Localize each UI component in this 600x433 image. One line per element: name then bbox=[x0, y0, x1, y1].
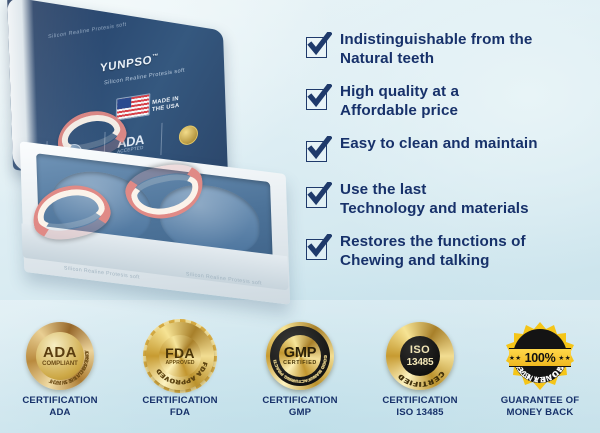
benefit-line-1: Indistinguishable from the bbox=[340, 30, 532, 49]
certification-ada: AMERICANS WITH DISABILITIES ACT ADA COMP… bbox=[0, 322, 120, 433]
certification-fda: FDA APPROVED FDA APPROVED FDA APPROVED C… bbox=[120, 322, 240, 433]
fda-core-main: FDA bbox=[165, 346, 195, 360]
caption-line-1: CERTIFICATION bbox=[142, 395, 217, 407]
checkmark-icon bbox=[306, 184, 329, 207]
benefit-line-1: Easy to clean and maintain bbox=[340, 134, 538, 153]
iso-core-label: ISO 13485 bbox=[386, 322, 454, 390]
benefit-text: Use the last Technology and materials bbox=[340, 180, 529, 219]
money-back-guarantee-seal-icon: MONEY BACK GUARANTEE ★★ 100% ★★ bbox=[506, 322, 574, 390]
money-back-caption: GUARANTEE OF MONEY BACK bbox=[501, 395, 580, 420]
caption-line-2: FDA bbox=[142, 407, 217, 419]
benefits-list: Indistinguishable from the Natural teeth… bbox=[306, 30, 598, 284]
benefit-item-2: High quality at a Affordable price bbox=[306, 82, 598, 121]
benefit-item-5: Restores the functions of Chewing and ta… bbox=[306, 232, 598, 271]
ada-compliant-seal-icon: AMERICANS WITH DISABILITIES ACT ADA COMP… bbox=[26, 322, 94, 390]
checkmark-icon bbox=[306, 34, 329, 57]
caption-line-2: GMP bbox=[262, 407, 337, 419]
benefit-line-1: Use the last bbox=[340, 180, 529, 199]
caption-line-1: GUARANTEE OF bbox=[501, 395, 580, 407]
money-back-percent: 100% bbox=[525, 351, 556, 365]
benefit-line-2: Natural teeth bbox=[340, 49, 532, 68]
benefit-text: Easy to clean and maintain bbox=[340, 134, 538, 153]
certification-strip: AMERICANS WITH DISABILITIES ACT ADA COMP… bbox=[0, 322, 600, 433]
gmp-core-sub: CERTIFIED bbox=[283, 361, 317, 366]
product-package: Silicon Realine Protesis soft YUNPSO™ Si… bbox=[4, 8, 304, 313]
benefit-text: Restores the functions of Chewing and ta… bbox=[340, 232, 526, 271]
certification-gmp: GOOD MANUFACTURING PRACTICE GOOD MANUFAC… bbox=[240, 322, 360, 433]
caption-line-1: CERTIFICATION bbox=[382, 395, 457, 407]
iso-core-sub: 13485 bbox=[407, 358, 434, 368]
benefit-text: Indistinguishable from the Natural teeth bbox=[340, 30, 532, 69]
benefit-line-1: Restores the functions of bbox=[340, 232, 526, 251]
certification-iso: CERTIFIED CERTIFIED ISO 13485 CERTIFICAT… bbox=[360, 322, 480, 433]
benefit-text: High quality at a Affordable price bbox=[340, 82, 459, 121]
caption-line-2: MONEY BACK bbox=[501, 407, 580, 419]
fda-approved-seal-icon: FDA APPROVED FDA APPROVED FDA APPROVED bbox=[146, 322, 214, 390]
ada-core-label: ADA COMPLIANT bbox=[26, 322, 94, 390]
benefit-item-4: Use the last Technology and materials bbox=[306, 180, 598, 219]
benefit-line-2: Technology and materials bbox=[340, 199, 529, 218]
caption-line-2: ISO 13485 bbox=[382, 407, 457, 419]
money-back-center-band: ★★ 100% ★★ bbox=[509, 348, 571, 367]
caption-line-1: CERTIFICATION bbox=[262, 395, 337, 407]
star-icon-right: ★★ bbox=[558, 354, 571, 362]
benefit-line-2: Chewing and talking bbox=[340, 251, 526, 270]
guarantee-money-back: MONEY BACK GUARANTEE ★★ 100% ★★ GUARANTE… bbox=[480, 322, 600, 433]
gmp-caption: CERTIFICATION GMP bbox=[262, 395, 337, 420]
star-icon-left: ★★ bbox=[509, 354, 522, 362]
fda-core-label: FDA APPROVED bbox=[146, 322, 214, 390]
iso-core-main: ISO bbox=[410, 345, 430, 356]
caption-line-1: CERTIFICATION bbox=[22, 395, 97, 407]
iso-13485-seal-icon: CERTIFIED CERTIFIED ISO 13485 bbox=[386, 322, 454, 390]
lid-logo-seal-right bbox=[161, 115, 215, 156]
gmp-core-main: GMP bbox=[284, 346, 316, 361]
gmp-certified-seal-icon: GOOD MANUFACTURING PRACTICE GOOD MANUFAC… bbox=[266, 322, 334, 390]
fda-caption: CERTIFICATION FDA bbox=[142, 395, 217, 420]
benefit-item-3: Easy to clean and maintain bbox=[306, 134, 598, 161]
benefit-line-2: Affordable price bbox=[340, 101, 459, 120]
checkmark-icon bbox=[306, 86, 329, 109]
benefit-item-1: Indistinguishable from the Natural teeth bbox=[306, 30, 598, 69]
ada-caption: CERTIFICATION ADA bbox=[22, 395, 97, 420]
benefit-line-1: High quality at a bbox=[340, 82, 459, 101]
trademark-symbol: ™ bbox=[152, 53, 159, 60]
ada-core-main: ADA bbox=[43, 345, 77, 360]
gmp-core-label: GMP CERTIFIED bbox=[266, 322, 334, 390]
checkmark-icon bbox=[306, 236, 329, 259]
promo-banner: Silicon Realine Protesis soft YUNPSO™ Si… bbox=[0, 0, 600, 433]
checkmark-icon bbox=[306, 138, 329, 161]
fda-core-sub: APPROVED bbox=[165, 361, 194, 366]
ada-core-sub: COMPLIANT bbox=[42, 361, 78, 367]
gold-award-seal-icon bbox=[178, 124, 198, 146]
iso-caption: CERTIFICATION ISO 13485 bbox=[382, 395, 457, 420]
caption-line-2: ADA bbox=[22, 407, 97, 419]
